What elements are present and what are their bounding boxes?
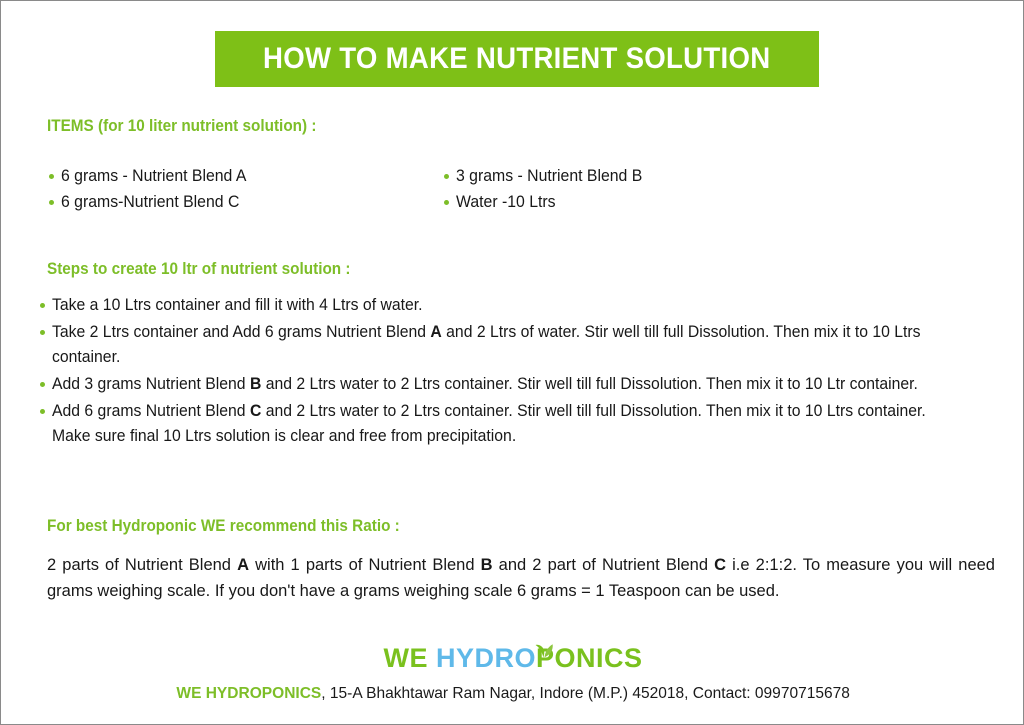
items-list-left: 6 grams - Nutrient Blend A 6 grams-Nutri… xyxy=(47,163,260,215)
emphasis-text: A xyxy=(237,556,249,574)
emphasis-text: B xyxy=(250,375,261,393)
step-item-label: Add 3 grams Nutrient Blend B and 2 Ltrs … xyxy=(52,372,964,397)
infographic-page: HOW TO MAKE NUTRIENT SOLUTION ITEMS (for… xyxy=(0,0,1024,725)
footer-brand: WE HYDROPONICS xyxy=(176,685,321,702)
items-column-right: 3 grams - Nutrient Blend B Water -10 Ltr… xyxy=(442,163,656,215)
logo-text-on: ON xyxy=(555,643,597,673)
bullet-dot-icon xyxy=(40,303,45,308)
list-item-label: 3 grams - Nutrient Blend B xyxy=(456,163,642,189)
list-item: 3 grams - Nutrient Blend B xyxy=(442,163,656,189)
brand-logo: WE HYDROPONICS xyxy=(1,641,1024,679)
bullet-dot-icon xyxy=(444,200,449,205)
body-text: Take 2 Ltrs container and Add 6 grams Nu… xyxy=(52,323,430,341)
logo-text-i: I xyxy=(596,643,604,673)
list-item-label: 6 grams - Nutrient Blend A xyxy=(61,163,246,189)
step-item: Take 2 Ltrs container and Add 6 grams Nu… xyxy=(39,320,1007,370)
step-item: Add 6 grams Nutrient Blend C and 2 Ltrs … xyxy=(39,399,1007,449)
body-text: 2 parts of Nutrient Blend xyxy=(47,556,237,574)
ratio-paragraph: 2 parts of Nutrient Blend A with 1 parts… xyxy=(47,553,995,604)
logo-text-hydro: HYDRO xyxy=(436,643,536,673)
brand-logo-wordmark: WE HYDROPONICS xyxy=(383,641,642,675)
bullet-dot-icon xyxy=(40,409,45,414)
steps-section-heading: Steps to create 10 ltr of nutrient solut… xyxy=(47,259,350,279)
ratio-section-heading: For best Hydroponic WE recommend this Ra… xyxy=(47,516,400,536)
emphasis-text: C xyxy=(714,556,726,574)
body-text: and 2 Ltrs water to 2 Ltrs container. St… xyxy=(261,375,918,393)
steps-list: Take a 10 Ltrs container and fill it wit… xyxy=(39,293,1007,451)
list-item-label: 6 grams-Nutrient Blend C xyxy=(61,189,239,215)
list-item: Water -10 Ltrs xyxy=(442,189,656,215)
logo-text-cs: CS xyxy=(604,643,643,673)
page-title: HOW TO MAKE NUTRIENT SOLUTION xyxy=(263,42,770,76)
step-item-label: Add 6 grams Nutrient Blend C and 2 Ltrs … xyxy=(52,399,964,449)
bullet-dot-icon xyxy=(40,330,45,335)
page-title-banner: HOW TO MAKE NUTRIENT SOLUTION xyxy=(215,31,819,87)
body-text: Add 6 grams Nutrient Blend xyxy=(52,402,250,420)
list-item-label: Water -10 Ltrs xyxy=(456,189,556,215)
body-text: and 2 part of Nutrient Blend xyxy=(493,556,715,574)
footer: WE HYDROPONICS, 15-A Bhakhtawar Ram Naga… xyxy=(1,685,1024,703)
emphasis-text: C xyxy=(250,402,261,420)
bullet-dot-icon xyxy=(40,382,45,387)
bullet-dot-icon xyxy=(49,200,54,205)
footer-text: WE HYDROPONICS, 15-A Bhakhtawar Ram Naga… xyxy=(176,685,849,703)
items-list-right: 3 grams - Nutrient Blend B Water -10 Ltr… xyxy=(442,163,656,215)
list-item: 6 grams - Nutrient Blend A xyxy=(47,163,260,189)
items-section-heading: ITEMS (for 10 liter nutrient solution) : xyxy=(47,116,316,136)
emphasis-text: B xyxy=(481,556,493,574)
bullet-dot-icon xyxy=(49,174,54,179)
footer-address: , 15-A Bhakhtawar Ram Nagar, Indore (M.P… xyxy=(321,685,850,702)
items-column-left: 6 grams - Nutrient Blend A 6 grams-Nutri… xyxy=(47,163,260,215)
bullet-dot-icon xyxy=(444,174,449,179)
step-item: Take a 10 Ltrs container and fill it wit… xyxy=(39,293,1007,318)
body-text: with 1 parts of Nutrient Blend xyxy=(249,556,481,574)
step-item-label: Take 2 Ltrs container and Add 6 grams Nu… xyxy=(52,320,964,370)
step-item: Add 3 grams Nutrient Blend B and 2 Ltrs … xyxy=(39,372,1007,397)
body-text: Add 3 grams Nutrient Blend xyxy=(52,375,250,393)
emphasis-text: A xyxy=(430,323,441,341)
body-text: Take a 10 Ltrs container and fill it wit… xyxy=(52,296,422,314)
logo-text-we: WE xyxy=(383,643,436,673)
leaf-icon xyxy=(531,632,557,648)
list-item: 6 grams-Nutrient Blend C xyxy=(47,189,260,215)
step-item-label: Take a 10 Ltrs container and fill it wit… xyxy=(52,293,964,318)
